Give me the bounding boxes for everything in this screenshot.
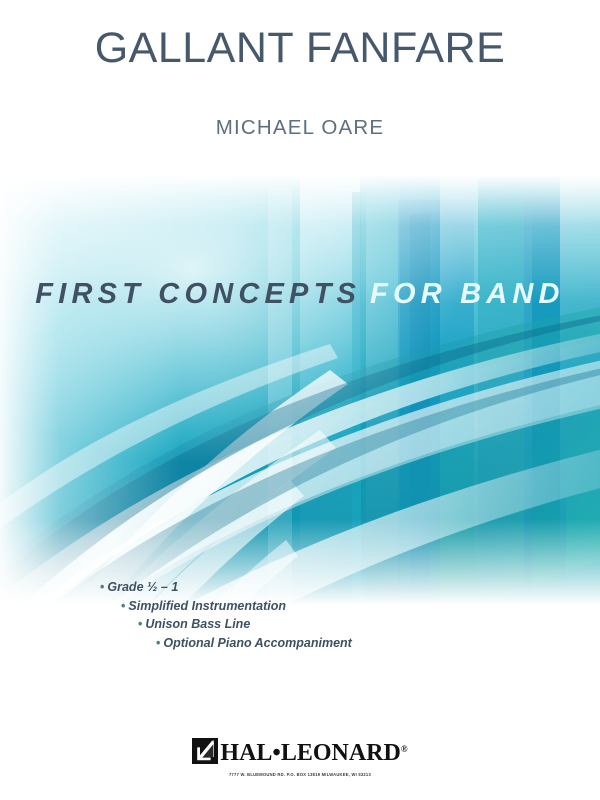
series-secondary-text: FOR BAND — [370, 278, 565, 311]
feature-label-instrumentation: Simplified Instrumentation — [128, 599, 286, 613]
publisher-name-text: HAL•LEONARD — [220, 740, 400, 766]
feature-label-grade: Grade ½ – 1 — [107, 580, 178, 594]
artwork-layers — [0, 175, 600, 800]
publisher-address: 7777 W. BLUEMOUND RD. P.O. BOX 13819 MIL… — [0, 772, 600, 777]
bullet-icon: • — [156, 636, 160, 650]
sheet-music-cover: GALLANT FANFARE MICHAEL OARE FIRST CONCE… — [0, 0, 600, 800]
composer-name: MICHAEL OARE — [0, 71, 600, 140]
list-item: •Simplified Instrumentation — [0, 597, 600, 616]
bullet-icon: • — [100, 580, 104, 594]
publisher-block: HAL•LEONARD® 7777 W. BLUEMOUND RD. P.O. … — [0, 736, 600, 777]
feature-label-piano: Optional Piano Accompaniment — [163, 636, 351, 650]
bullet-icon: • — [121, 599, 125, 613]
publisher-name: HAL•LEONARD® — [220, 736, 407, 766]
title-block: GALLANT FANFARE MICHAEL OARE — [0, 0, 600, 140]
feature-label-bass-line: Unison Bass Line — [145, 617, 250, 631]
registered-trademark-icon: ® — [401, 744, 408, 754]
series-primary-text: FIRST CONCEPTS — [35, 278, 361, 311]
list-item: •Grade ½ – 1 — [0, 578, 600, 597]
bullet-icon: • — [138, 617, 142, 631]
list-item: •Unison Bass Line — [0, 615, 600, 634]
series-wordmark: FIRST CONCEPTSFOR BAND — [0, 278, 600, 311]
list-item: •Optional Piano Accompaniment — [0, 634, 600, 653]
publisher-logo: HAL•LEONARD® — [192, 736, 407, 766]
feature-list: •Grade ½ – 1 •Simplified Instrumentation… — [0, 578, 600, 652]
hal-leonard-mark-icon — [192, 738, 218, 764]
page-title: GALLANT FANFARE — [0, 0, 600, 71]
